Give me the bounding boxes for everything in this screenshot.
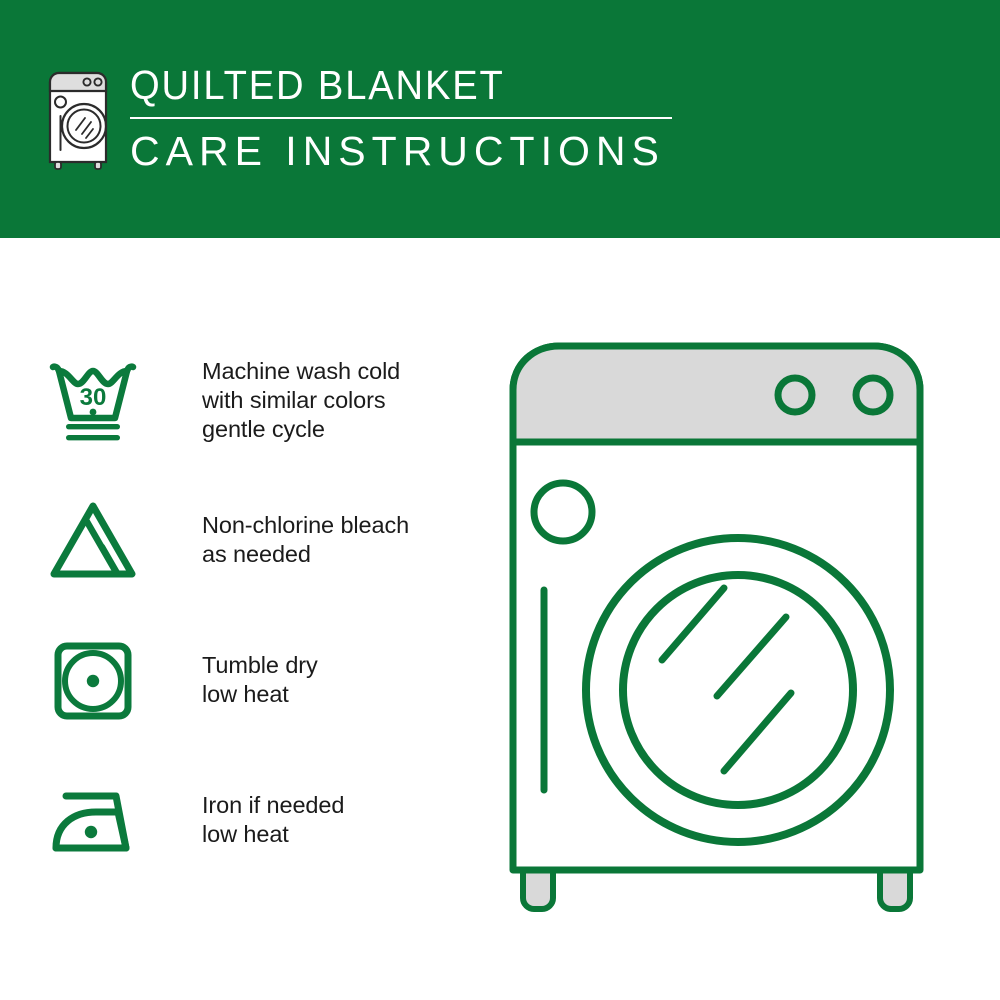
washing-machine-icon: [44, 66, 112, 170]
instruction-line: low heat: [202, 820, 344, 849]
instruction-row: Non-chlorine bleach as needed: [44, 470, 474, 610]
instruction-line: Machine wash cold: [202, 357, 400, 386]
non-chlorine-bleach-icon: [44, 494, 142, 586]
care-instructions-infographic: QUILTED BLANKET CARE INSTRUCTIONS 30: [0, 0, 1000, 1000]
symbol-slot: [44, 774, 162, 866]
symbol-slot: [44, 494, 162, 586]
machine-wash-30-gentle-icon: 30: [44, 354, 142, 446]
header-content: QUILTED BLANKET CARE INSTRUCTIONS: [44, 62, 672, 174]
instruction-line: with similar colors: [202, 386, 400, 415]
instruction-line: gentle cycle: [202, 415, 400, 444]
instruction-line: Iron if needed: [202, 791, 344, 820]
wash-temperature-label: 30: [80, 384, 107, 411]
instruction-line: as needed: [202, 540, 409, 569]
instruction-text: Iron if needed low heat: [162, 791, 344, 849]
instruction-text: Tumble dry low heat: [162, 651, 318, 709]
title-divider: [130, 117, 672, 119]
page-title: QUILTED BLANKET: [130, 62, 634, 108]
symbol-slot: [44, 634, 162, 726]
tumble-dry-low-icon: [44, 634, 142, 726]
page-subtitle: CARE INSTRUCTIONS: [130, 128, 672, 174]
symbol-slot: 30: [44, 354, 162, 446]
instruction-line: Tumble dry: [202, 651, 318, 680]
iron-low-heat-icon: [44, 774, 142, 866]
instruction-line: Non-chlorine bleach: [202, 511, 409, 540]
instruction-text: Machine wash cold with similar colors ge…: [162, 357, 400, 444]
header-band: QUILTED BLANKET CARE INSTRUCTIONS: [0, 0, 1000, 238]
instruction-text: Non-chlorine bleach as needed: [162, 511, 409, 569]
instruction-row: 30 Machine wash cold with similar colors…: [44, 330, 474, 470]
front-load-washing-machine-illustration: [495, 330, 965, 930]
instruction-list: 30 Machine wash cold with similar colors…: [44, 330, 474, 890]
instruction-row: Iron if needed low heat: [44, 750, 474, 890]
header-title-group: QUILTED BLANKET CARE INSTRUCTIONS: [130, 62, 672, 174]
instruction-line: low heat: [202, 680, 318, 709]
instruction-row: Tumble dry low heat: [44, 610, 474, 750]
